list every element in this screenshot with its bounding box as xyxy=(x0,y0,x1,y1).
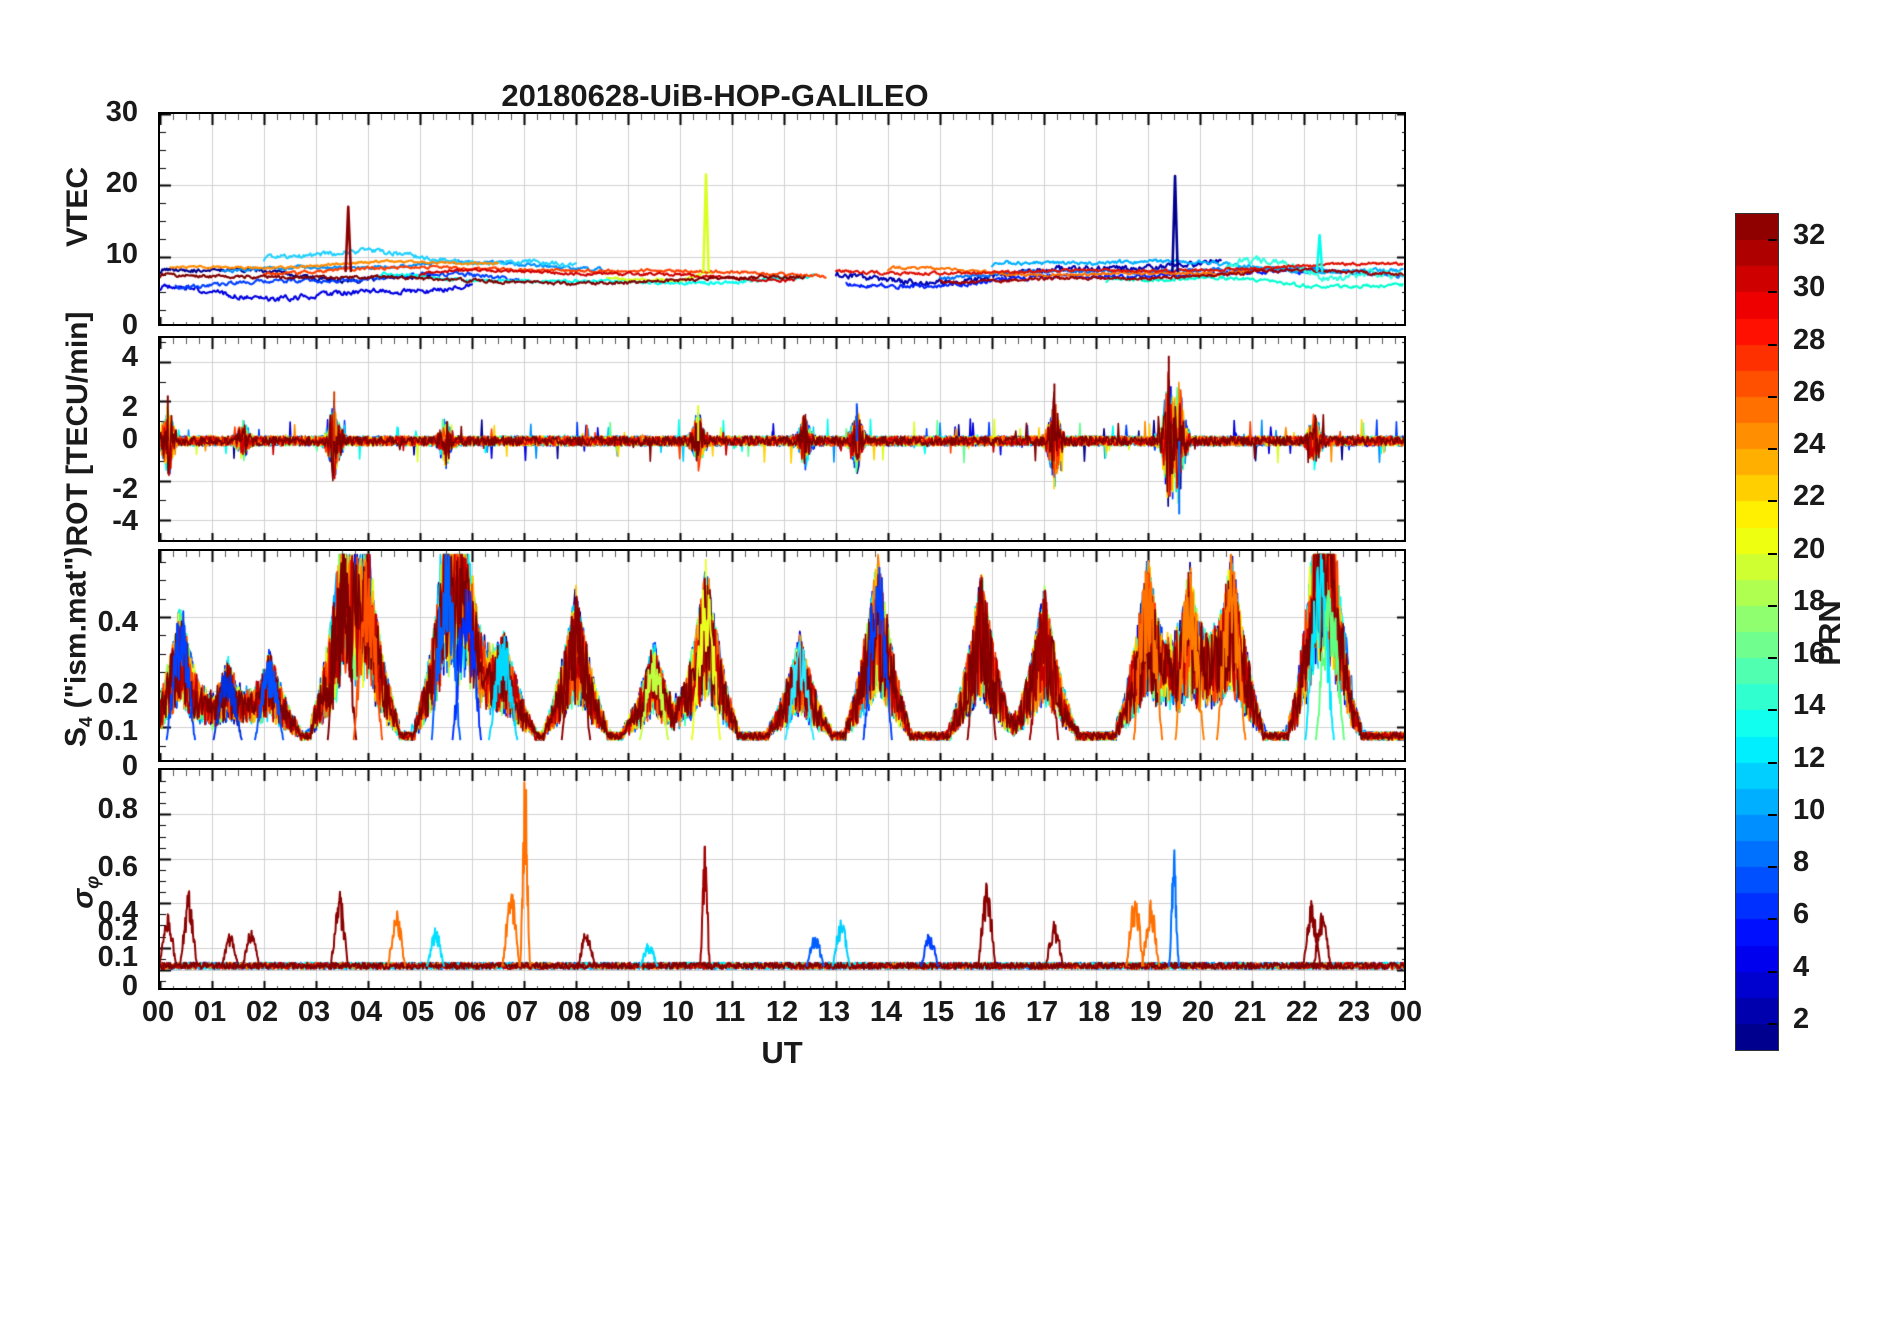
prn-tick-mark-22 xyxy=(1768,500,1777,502)
x-tick-21-21: 21 xyxy=(1220,996,1280,1029)
s4-plot-area xyxy=(158,549,1406,762)
prn-tick-mark-16 xyxy=(1768,657,1777,659)
prn-tick-mark-18 xyxy=(1768,605,1777,607)
prn-colorbar-label: PRN xyxy=(1812,573,1848,693)
sigmaphi-ytick-0: 0 xyxy=(60,970,138,1003)
prn-tick-mark-6 xyxy=(1768,918,1777,920)
x-tick-14-14: 14 xyxy=(856,996,916,1029)
page-title: 20180628-UiB-HOP-GALILEO xyxy=(0,78,1430,114)
x-tick-23-23: 23 xyxy=(1324,996,1384,1029)
x-tick-13-13: 13 xyxy=(804,996,864,1029)
vtec-plot-area xyxy=(158,112,1406,326)
prn-tick-mark-14 xyxy=(1768,709,1777,711)
prn-tick-mark-32 xyxy=(1768,239,1777,241)
x-tick-07-7: 07 xyxy=(492,996,552,1029)
x-tick-11-11: 11 xyxy=(700,996,760,1029)
prn-tick-mark-4 xyxy=(1768,971,1777,973)
rot-ytick-2: 2 xyxy=(76,391,138,424)
prn-tick-mark-8 xyxy=(1768,866,1777,868)
x-tick-02-2: 02 xyxy=(232,996,292,1029)
figure-root: 20180628-UiB-HOP-GALILEO VTEC 30 20 10 0… xyxy=(0,0,1902,1330)
x-tick-09-9: 09 xyxy=(596,996,656,1029)
prn-tick-mark-28 xyxy=(1768,344,1777,346)
x-tick-12-12: 12 xyxy=(752,996,812,1029)
x-tick-20-20: 20 xyxy=(1168,996,1228,1029)
prn-tick-6: 6 xyxy=(1793,898,1809,931)
prn-tick-mark-10 xyxy=(1768,814,1777,816)
prn-tick-28: 28 xyxy=(1793,324,1825,357)
vtec-ytick-10: 10 xyxy=(76,238,138,271)
vtec-ytick-30: 30 xyxy=(76,96,138,129)
s4-ytick-04: 0.4 xyxy=(60,606,138,639)
sigma-phi-plot-area xyxy=(158,768,1406,990)
rot-ytick-4: 4 xyxy=(76,341,138,374)
prn-tick-mark-30 xyxy=(1768,291,1777,293)
prn-tick-4: 4 xyxy=(1793,951,1809,984)
prn-tick-32: 32 xyxy=(1793,219,1825,252)
prn-tick-26: 26 xyxy=(1793,376,1825,409)
prn-tick-mark-24 xyxy=(1768,448,1777,450)
x-tick-00-0: 00 xyxy=(128,996,188,1029)
x-axis-label: UT xyxy=(722,1035,842,1071)
prn-tick-24: 24 xyxy=(1793,428,1825,461)
x-tick-16-16: 16 xyxy=(960,996,1020,1029)
prn-tick-mark-2 xyxy=(1768,1023,1777,1025)
x-tick-06-6: 06 xyxy=(440,996,500,1029)
x-tick-18-18: 18 xyxy=(1064,996,1124,1029)
prn-colorbar[interactable] xyxy=(1735,213,1779,1051)
sigmaphi-ytick-08: 0.8 xyxy=(60,793,138,826)
prn-tick-20: 20 xyxy=(1793,533,1825,566)
prn-tick-22: 22 xyxy=(1793,480,1825,513)
vtec-ytick-20: 20 xyxy=(76,167,138,200)
prn-tick-30: 30 xyxy=(1793,271,1825,304)
prn-tick-mark-26 xyxy=(1768,396,1777,398)
prn-tick-2: 2 xyxy=(1793,1003,1809,1036)
x-tick-22-22: 22 xyxy=(1272,996,1332,1029)
s4-ytick-01: 0.1 xyxy=(60,715,138,748)
x-tick-00-24: 00 xyxy=(1376,996,1436,1029)
x-tick-17-17: 17 xyxy=(1012,996,1072,1029)
x-tick-04-4: 04 xyxy=(336,996,396,1029)
s4-ytick-0: 0 xyxy=(60,750,138,783)
s4-ytick-02: 0.2 xyxy=(60,678,138,711)
x-tick-01-1: 01 xyxy=(180,996,240,1029)
x-tick-05-5: 05 xyxy=(388,996,448,1029)
prn-tick-12: 12 xyxy=(1793,742,1825,775)
prn-tick-8: 8 xyxy=(1793,846,1809,879)
x-tick-03-3: 03 xyxy=(284,996,344,1029)
prn-tick-14: 14 xyxy=(1793,689,1825,722)
prn-tick-mark-12 xyxy=(1768,762,1777,764)
x-tick-10-10: 10 xyxy=(648,996,708,1029)
prn-tick-mark-20 xyxy=(1768,553,1777,555)
rot-ytick-0: 0 xyxy=(76,423,138,456)
rot-plot-area xyxy=(158,336,1406,542)
x-tick-08-8: 08 xyxy=(544,996,604,1029)
sigmaphi-ytick-06: 0.6 xyxy=(60,851,138,884)
prn-tick-10: 10 xyxy=(1793,794,1825,827)
x-tick-15-15: 15 xyxy=(908,996,968,1029)
x-tick-19-19: 19 xyxy=(1116,996,1176,1029)
